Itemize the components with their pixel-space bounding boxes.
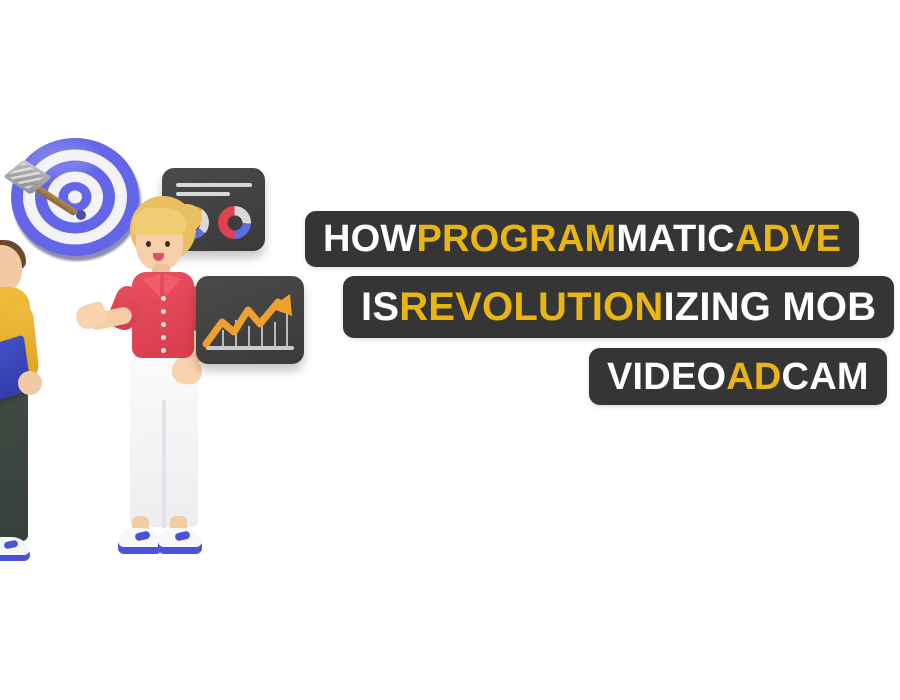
arrow-tip-icon — [76, 210, 86, 220]
shoe-stripe-icon — [174, 531, 190, 542]
headline-segment: ADVE — [735, 220, 841, 258]
headline-segment: CAM — [782, 358, 869, 396]
headline-banner-line-3: VIDEO AD CAM — [589, 348, 887, 405]
character-man — [0, 245, 65, 575]
woman-pant-seam — [162, 400, 166, 528]
man-legs — [0, 381, 28, 541]
rising-arrow-icon — [202, 288, 298, 350]
headline-segment: IS — [361, 287, 399, 327]
headline-segment: REVOLUTION — [399, 287, 663, 327]
woman-eye-right — [165, 241, 170, 247]
illustration-group — [0, 0, 320, 620]
card-header-line-2 — [176, 192, 230, 196]
line-chart-card — [196, 276, 304, 364]
headline-segment: HOW — [323, 220, 416, 258]
woman-shirt-buttons — [161, 296, 166, 354]
woman-shoe-left — [118, 528, 162, 554]
woman-hair-fringe — [132, 208, 186, 235]
character-woman — [110, 200, 240, 590]
headline-segment: IZING MOB — [663, 287, 876, 327]
woman-shoe-right — [158, 528, 202, 554]
poster-canvas: HOW PROGRAMMATIC ADVE IS REVOLUTIONIZING… — [0, 0, 900, 700]
headline-banner-line-1: HOW PROGRAMMATIC ADVE — [305, 211, 859, 267]
headline-segment: MATIC — [616, 220, 735, 258]
headline-segment: PROGRAM — [416, 220, 616, 258]
man-shoe-right — [0, 537, 30, 561]
headline-segment: AD — [726, 358, 781, 396]
man-hand — [18, 371, 42, 395]
headline-segment: VIDEO — [607, 358, 726, 396]
woman-eye-left — [146, 241, 151, 247]
shoe-stripe-icon — [3, 540, 18, 550]
shoe-stripe-icon — [134, 531, 150, 542]
card-header-line-1 — [176, 183, 252, 187]
headline-banner-line-2: IS REVOLUTIONIZING MOB — [343, 276, 894, 338]
target-bullseye — [68, 191, 82, 204]
